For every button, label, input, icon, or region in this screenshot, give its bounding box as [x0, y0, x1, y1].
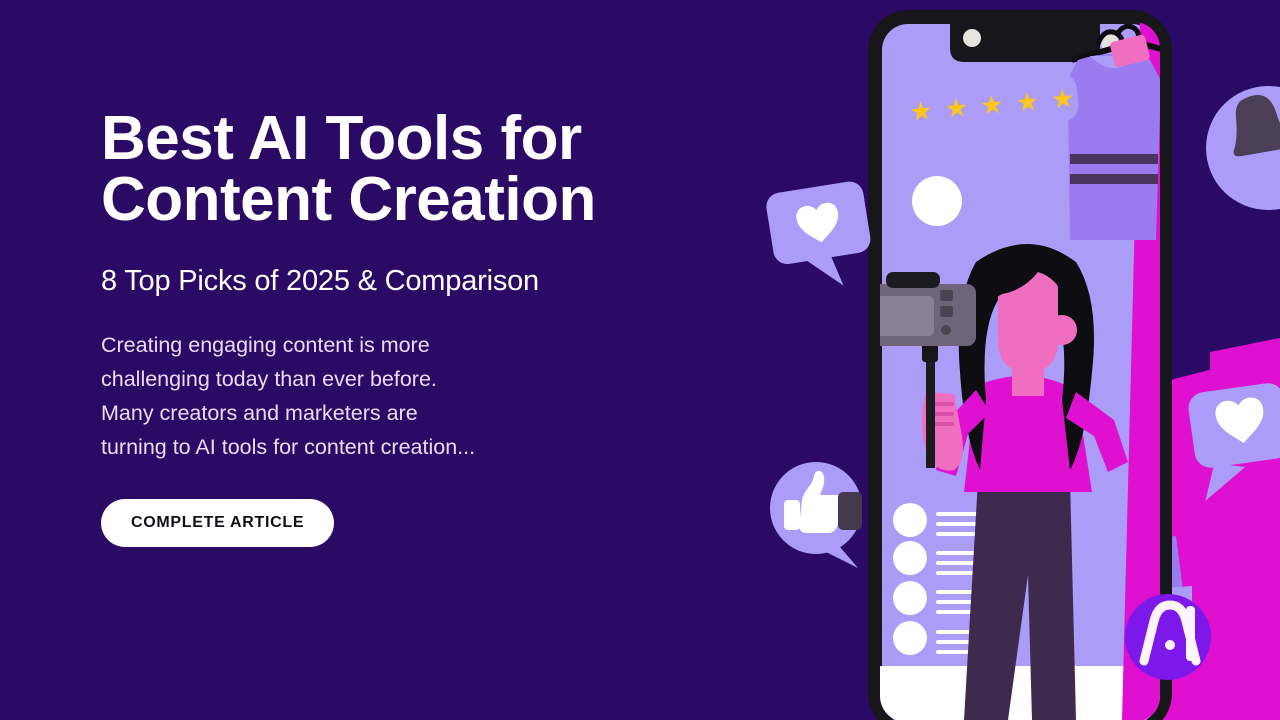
body-line-2: challenging today than ever before.	[101, 363, 761, 397]
subheadline: 8 Top Picks of 2025 & Comparison	[101, 265, 761, 298]
complete-article-button[interactable]: COMPLETE ARTICLE	[101, 499, 334, 547]
heart-bubble-left	[764, 180, 877, 296]
body-line-4: turning to AI tools for content creation…	[101, 431, 761, 465]
notification-bubble-right-top	[1206, 86, 1280, 210]
thumbs-up-bubble-left	[770, 462, 862, 568]
hero-copy: Best AI Tools for Content Creation 8 Top…	[101, 108, 761, 547]
body-line-3: Many creators and marketers are	[101, 397, 761, 431]
headline-line-1: Best AI Tools for	[101, 104, 582, 173]
phone-bottom-band	[880, 666, 1162, 720]
phone-camera-dot	[963, 29, 981, 47]
headline-line-2: Content Creation	[101, 169, 761, 230]
body-line-1: Creating engaging content is more	[101, 329, 761, 363]
body-paragraph: Creating engaging content is more challe…	[101, 329, 761, 465]
page-title: Best AI Tools for Content Creation	[101, 108, 761, 231]
profile-avatar	[912, 176, 962, 226]
promo-banner: Best AI Tools for Content Creation 8 Top…	[0, 0, 1280, 720]
hero-illustration: ★ ★ ★ ★ ★	[740, 0, 1280, 720]
ai-logo-badge	[1125, 594, 1211, 680]
